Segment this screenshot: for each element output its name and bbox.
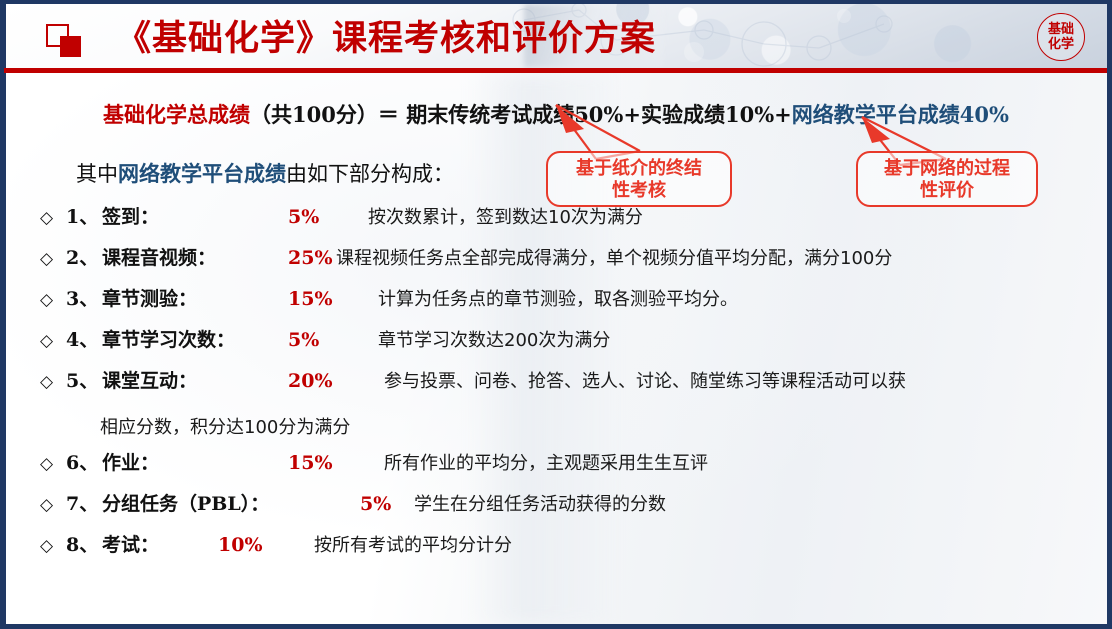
list-item-number: 2、 xyxy=(66,243,102,270)
list-item: ◇ 6、 作业： 15% 所有作业的平均分，主观题采用生生互评 xyxy=(40,448,1100,489)
list-item: ◇ 2、 课程音视频： 25% 课程视频任务点全部完成得满分，单个视频分值平均分… xyxy=(40,243,1100,284)
callout-online-based: 基于网络的过程 性评价 xyxy=(856,151,1038,207)
list-item-label: 章节测验： xyxy=(102,284,288,311)
callout-online-line1: 基于网络的过程 xyxy=(868,158,1026,180)
formula-online-part: 网络教学平台成绩40% xyxy=(792,102,1009,127)
list-item-desc: 所有作业的平均分，主观题采用生生互评 xyxy=(384,449,708,475)
course-badge-line1: 基础 xyxy=(1038,22,1084,37)
list-item: ◇ 3、 章节测验： 15% 计算为任务点的章节测验，取各测验平均分。 xyxy=(40,284,1100,325)
formula-breakdown: （共100分）＝ 期末传统考试成绩50%+实验成绩10%+ xyxy=(250,102,792,127)
list-item-number: 3、 xyxy=(66,284,102,311)
list-item-desc: 参与投票、问卷、抢答、选人、讨论、随堂练习等课程活动可以获 xyxy=(384,367,906,393)
total-score-formula: 基础化学总成绩（共100分）＝ 期末传统考试成绩50%+实验成绩10%+网络教学… xyxy=(0,99,1112,129)
list-item-number: 4、 xyxy=(66,325,102,352)
list-item-label: 签到： xyxy=(102,202,288,229)
list-item-desc: 计算为任务点的章节测验，取各测验平均分。 xyxy=(378,285,738,311)
diamond-bullet-icon: ◇ xyxy=(40,249,66,269)
slide-root: 《基础化学》课程考核和评价方案 基础 化学 基础化学总成绩（共100分）＝ 期末… xyxy=(0,0,1112,629)
list-item: ◇ 7、 分组任务（PBL）： 5% 学生在分组任务活动获得的分数 xyxy=(40,489,1100,530)
list-item: ◇ 4、 章节学习次数： 5% 章节学习次数达200次为满分 xyxy=(40,325,1100,366)
callout-paper-line2: 性考核 xyxy=(558,180,720,202)
frame-right xyxy=(1107,0,1112,629)
page-title: 《基础化学》课程考核和评价方案 xyxy=(116,10,656,61)
list-item-percent: 15% xyxy=(288,288,378,310)
subline-suffix: 由如下部分构成： xyxy=(286,162,454,186)
list-item-label: 考试： xyxy=(102,530,218,557)
diamond-bullet-icon: ◇ xyxy=(40,454,66,474)
frame-top xyxy=(0,0,1112,4)
list-item-desc: 按所有考试的平均分计分 xyxy=(314,531,512,557)
frame-bottom xyxy=(0,624,1112,629)
subline-highlight: 网络教学平台成绩 xyxy=(118,161,286,186)
list-item-label: 作业： xyxy=(102,448,288,475)
frame-left xyxy=(0,0,6,629)
list-item-percent: 5% xyxy=(288,329,378,351)
online-platform-intro: 其中网络教学平台成绩由如下部分构成： xyxy=(76,158,454,188)
diamond-bullet-icon: ◇ xyxy=(40,208,66,228)
score-components-list: ◇ 1、 签到： 5% 按次数累计，签到数达10次为满分 ◇ 2、 课程音视频：… xyxy=(40,202,1100,571)
decorative-squares-icon xyxy=(46,24,86,56)
diamond-bullet-icon: ◇ xyxy=(40,290,66,310)
list-item-label: 章节学习次数： xyxy=(102,325,288,352)
list-item-percent: 5% xyxy=(360,493,414,515)
list-item-desc: 学生在分组任务活动获得的分数 xyxy=(414,490,666,516)
list-item: ◇ 1、 签到： 5% 按次数累计，签到数达10次为满分 xyxy=(40,202,1100,243)
course-badge-line2: 化学 xyxy=(1038,37,1084,52)
callout-paper-line1: 基于纸介的终结 xyxy=(558,158,720,180)
diamond-bullet-icon: ◇ xyxy=(40,536,66,556)
header-divider xyxy=(4,68,1107,73)
list-item-label: 课堂互动： xyxy=(102,366,288,393)
list-item-label: 课程音视频： xyxy=(102,243,288,270)
list-item-percent: 5% xyxy=(288,206,368,228)
slide-header: 《基础化学》课程考核和评价方案 基础 化学 xyxy=(4,4,1107,68)
list-item-number: 7、 xyxy=(66,489,102,516)
subline-prefix: 其中 xyxy=(76,162,118,186)
list-item: ◇ 5、 课堂互动： 20% 参与投票、问卷、抢答、选人、讨论、随堂练习等课程活… xyxy=(40,366,1100,407)
diamond-bullet-icon: ◇ xyxy=(40,331,66,351)
list-item-continuation: 相应分数，积分达100分为满分 xyxy=(40,407,1100,448)
list-item-number: 8、 xyxy=(66,530,102,557)
list-item: ◇ 8、 考试： 10% 按所有考试的平均分计分 xyxy=(40,530,1100,571)
diamond-bullet-icon: ◇ xyxy=(40,495,66,515)
list-item-percent: 10% xyxy=(218,534,314,556)
course-badge: 基础 化学 xyxy=(1037,13,1085,61)
list-item-percent: 20% xyxy=(288,370,384,392)
callout-online-line2: 性评价 xyxy=(868,180,1026,202)
formula-subject: 基础化学总成绩 xyxy=(103,102,250,127)
list-item-number: 6、 xyxy=(66,448,102,475)
callout-paper-based: 基于纸介的终结 性考核 xyxy=(546,151,732,207)
list-item-number: 1、 xyxy=(66,202,102,229)
list-item-percent: 25% xyxy=(288,247,336,269)
list-item-label: 分组任务（PBL）： xyxy=(102,489,360,516)
list-item-desc: 章节学习次数达200次为满分 xyxy=(378,326,610,352)
list-item-percent: 15% xyxy=(288,452,384,474)
list-item-desc: 课程视频任务点全部完成得满分，单个视频分值平均分配，满分100分 xyxy=(336,244,892,270)
list-item-number: 5、 xyxy=(66,366,102,393)
diamond-bullet-icon: ◇ xyxy=(40,372,66,392)
